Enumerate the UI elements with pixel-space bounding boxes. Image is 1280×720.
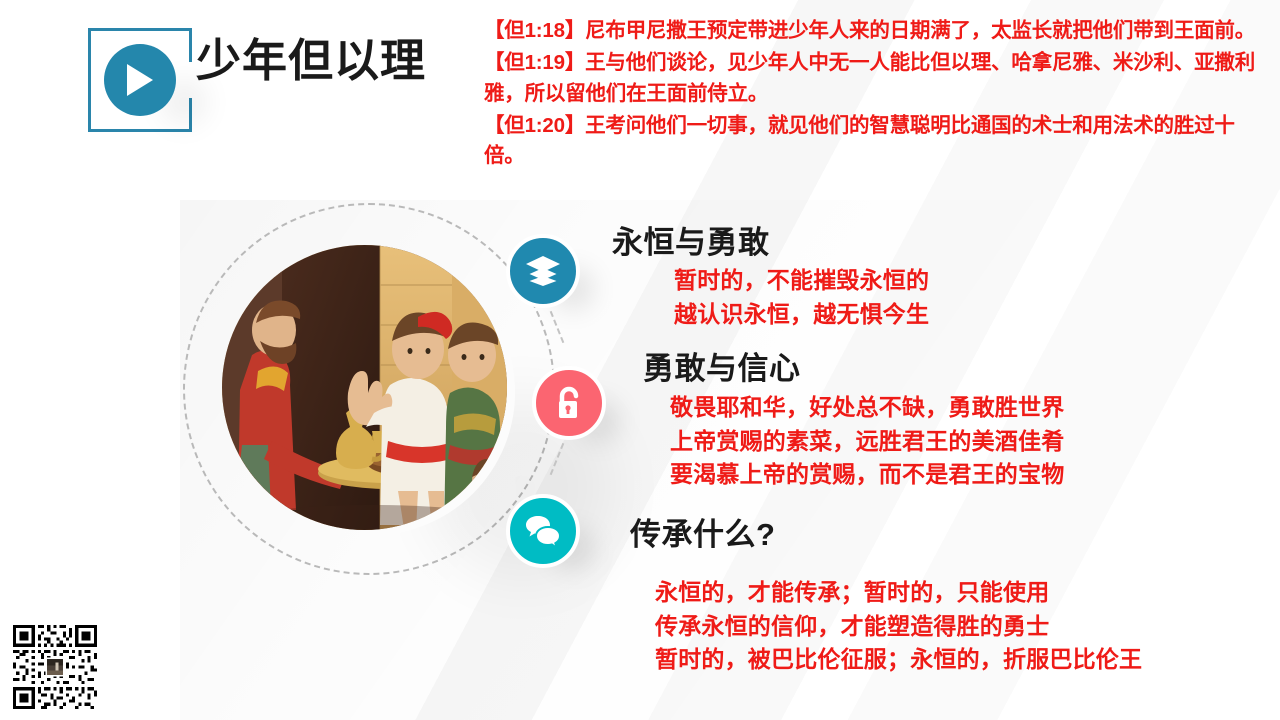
section-heading: 永恒与勇敢 xyxy=(612,226,929,260)
slide-canvas: 少年但以理 【但1:18】尼布甲尼撒王预定带进少年人来的日期满了，太监长就把他们… xyxy=(0,0,1280,720)
layers-icon[interactable] xyxy=(506,234,580,308)
section-heading: 勇敢与信心 xyxy=(643,352,1064,386)
connector-line xyxy=(550,311,565,343)
chat-bubbles-icon[interactable] xyxy=(506,494,580,568)
section-line: 要渴慕上帝的赏赐，而不是君王的宝物 xyxy=(670,458,1064,492)
logo xyxy=(88,28,192,132)
scripture-block: 【但1:18】尼布甲尼撒王预定带进少年人来的日期满了，太监长就把他们带到王面前。… xyxy=(484,16,1264,174)
page-title: 少年但以理 xyxy=(196,38,426,83)
qr-code[interactable] xyxy=(10,622,100,712)
play-button-icon xyxy=(104,44,176,116)
unlock-icon[interactable] xyxy=(532,366,606,440)
section-what-to-inherit: 传承什么? 永恒的，才能传承；暂时的，只能使用 传承永恒的信仰，才能塑造得胜的勇… xyxy=(630,518,1142,677)
scripture-verse: 【但1:18】尼布甲尼撒王预定带进少年人来的日期满了，太监长就把他们带到王面前。 xyxy=(484,16,1264,46)
section-line: 永恒的，才能传承；暂时的，只能使用 xyxy=(655,576,1142,610)
illustration-image xyxy=(222,245,507,530)
section-courage-and-faith: 勇敢与信心 敬畏耶和华，好处总不缺，勇敢胜世界 上帝赏赐的素菜，远胜君王的美酒佳… xyxy=(643,352,1064,492)
connector-line xyxy=(550,443,565,475)
section-heading: 传承什么? xyxy=(630,518,1142,552)
section-line: 敬畏耶和华，好处总不缺，勇敢胜世界 xyxy=(670,391,1064,425)
section-line: 上帝赏赐的素菜，远胜君王的美酒佳肴 xyxy=(670,425,1064,459)
section-lines: 永恒的，才能传承；暂时的，只能使用 传承永恒的信仰，才能塑造得胜的勇士 暂时的，… xyxy=(655,576,1142,677)
section-line: 传承永恒的信仰，才能塑造得胜的勇士 xyxy=(655,610,1142,644)
section-eternity-and-courage: 永恒与勇敢 暂时的，不能摧毁永恒的 越认识永恒，越无惧今生 xyxy=(612,226,929,331)
scripture-verse: 【但1:19】王与他们谈论，见少年人中无一人能比但以理、哈拿尼雅、米沙利、亚撒利… xyxy=(484,48,1264,109)
scripture-verse: 【但1:20】王考问他们一切事，就见他们的智慧聪明比通国的术士和用法术的胜过十倍… xyxy=(484,111,1264,172)
logo-frame-gap xyxy=(186,62,196,98)
section-lines: 暂时的，不能摧毁永恒的 越认识永恒，越无惧今生 xyxy=(674,264,929,331)
section-line: 暂时的，不能摧毁永恒的 xyxy=(674,264,929,298)
section-lines: 敬畏耶和华，好处总不缺，勇敢胜世界 上帝赏赐的素菜，远胜君王的美酒佳肴 要渴慕上… xyxy=(670,391,1064,492)
section-line: 越认识永恒，越无惧今生 xyxy=(674,298,929,332)
section-line: 暂时的，被巴比伦征服；永恒的，折服巴比伦王 xyxy=(655,643,1142,677)
